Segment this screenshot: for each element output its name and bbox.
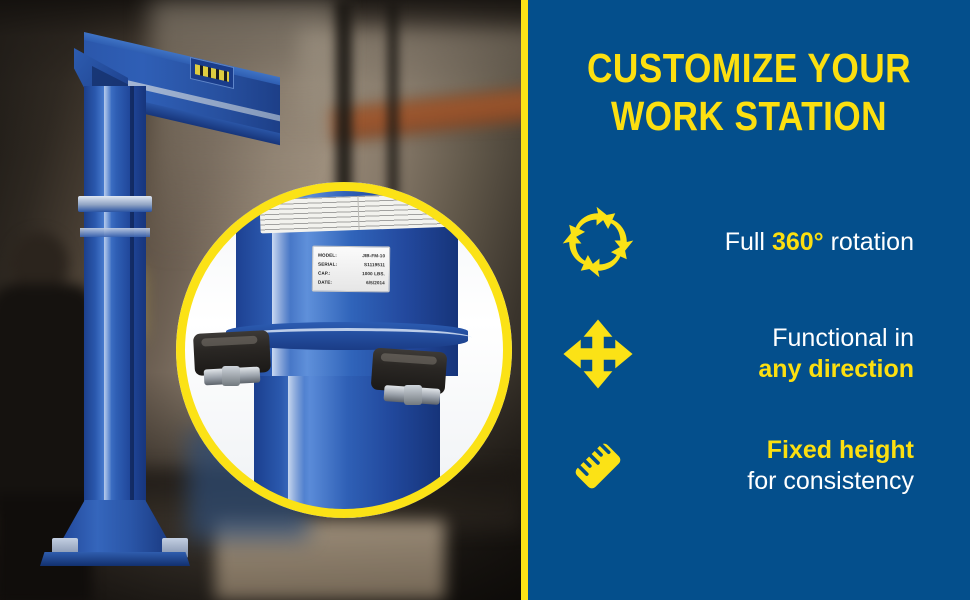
four-way-move-arrows-icon — [528, 318, 668, 390]
spec-row: DATE: 6/5/2014 — [318, 278, 385, 288]
rotation-arrows-icon — [528, 206, 668, 278]
product-photo: MODEL: JIB-FM-10 SERIAL: S1119511 CAP.: … — [0, 0, 521, 600]
headline-line-2: WORK STATION — [559, 92, 939, 140]
detail-axle-nut — [222, 366, 240, 386]
headline: CUSTOMIZE YOUR WORK STATION — [559, 44, 939, 140]
headline-line-1: CUSTOMIZE YOUR — [587, 45, 911, 91]
crane-column-highlight — [104, 86, 111, 538]
spec-plate: MODEL: JIB-FM-10 SERIAL: S1119511 CAP.: … — [312, 246, 390, 293]
feature-panel: CUSTOMIZE YOUR WORK STATION — [528, 0, 970, 600]
feature-item-direction: Functional in any direction — [528, 298, 970, 410]
crane-base-plate — [40, 552, 190, 566]
feature-text-line-1: Fixed height — [668, 435, 914, 466]
crane-bearing-collar — [78, 196, 152, 212]
vertical-divider — [521, 0, 528, 600]
spec-value: S1119511 — [364, 260, 385, 269]
feature-text-line-2: for consistency — [668, 466, 914, 497]
spec-value: 6/5/2014 — [366, 278, 385, 287]
crane-column — [84, 86, 146, 538]
feature-text-rotation: Full 360° rotation — [668, 227, 970, 258]
feature-text-prefix: Full — [725, 228, 772, 256]
detail-zoom-content: MODEL: JIB-FM-10 SERIAL: S1119511 CAP.: … — [176, 182, 512, 518]
feature-text-suffix: rotation — [824, 228, 914, 256]
ruler-icon — [528, 430, 668, 502]
spec-label: CAP.: — [318, 269, 331, 278]
warning-sticker — [259, 193, 456, 234]
feature-text-height: Fixed height for consistency — [668, 435, 970, 497]
crane-bearing-collar-lower — [80, 228, 150, 237]
spec-label: DATE: — [318, 278, 332, 287]
feature-text-line-1: Functional in — [668, 323, 914, 354]
spec-value: JIB-FM-10 — [362, 251, 385, 260]
feature-item-rotation: Full 360° rotation — [528, 186, 970, 298]
crane-column-seam — [130, 86, 134, 538]
feature-item-height: Fixed height for consistency — [528, 410, 970, 522]
feature-text-line-2: any direction — [668, 354, 914, 385]
spec-label: MODEL: — [318, 251, 337, 260]
detail-zoom-circle: MODEL: JIB-FM-10 SERIAL: S1119511 CAP.: … — [176, 182, 512, 518]
feature-list: Full 360° rotation Functional in any dir… — [528, 186, 970, 522]
product-feature-banner: MODEL: JIB-FM-10 SERIAL: S1119511 CAP.: … — [0, 0, 970, 600]
spec-label: SERIAL: — [318, 260, 337, 269]
feature-text-direction: Functional in any direction — [668, 323, 970, 385]
spec-value: 1000 LBS. — [362, 269, 385, 278]
detail-axle-nut — [404, 385, 422, 405]
feature-text-highlight: 360° — [772, 228, 824, 256]
